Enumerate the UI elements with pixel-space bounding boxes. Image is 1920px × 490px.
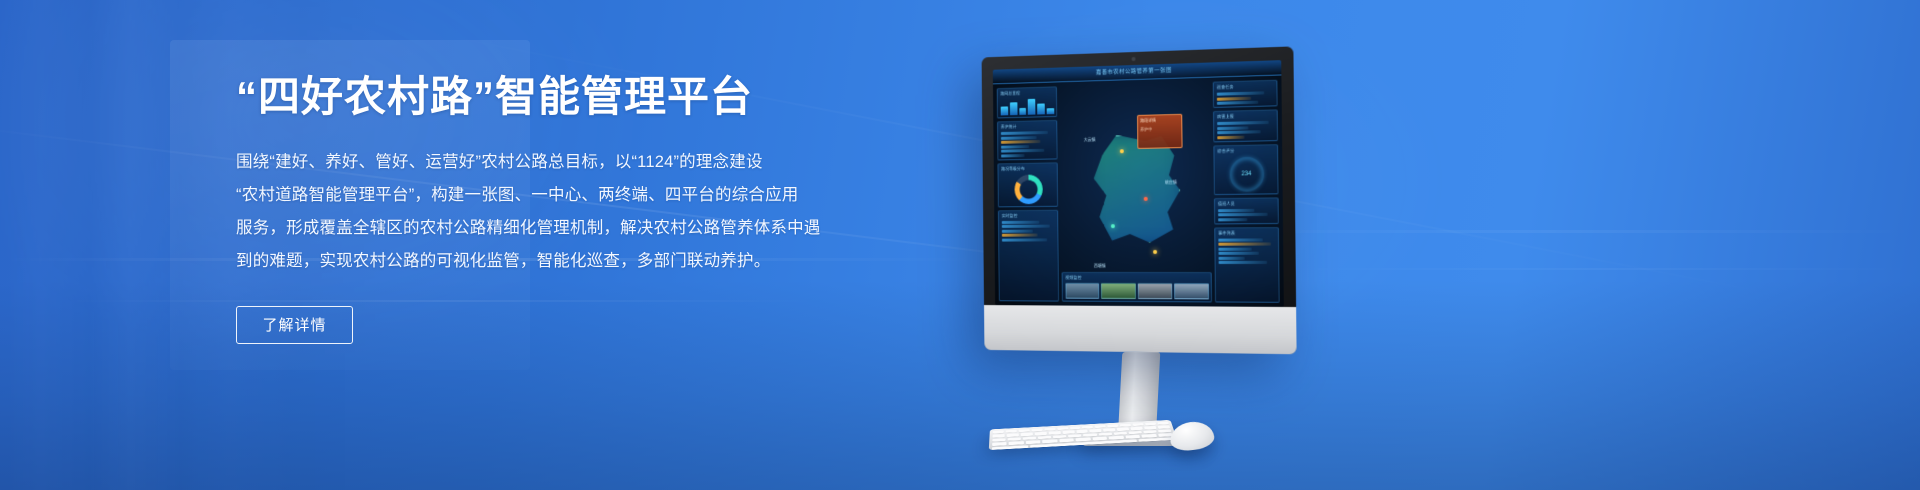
dashboard-map-panel[interactable]: 路段详情 养护中 大云镇 姚庄镇 西塘镇 视频监控	[1060, 82, 1212, 303]
thumbnail[interactable]	[1174, 283, 1209, 299]
page-title: “四好农村路”智能管理平台	[236, 72, 876, 122]
gauge-chart: 234	[1229, 156, 1264, 191]
hero-banner: “四好农村路”智能管理平台 围绕“建好、养好、管好、运营好”农村公路总目标，以“…	[0, 0, 1920, 490]
desktop-monitor: 嘉善市农村公路管养第一张图 路网总里程 养护统计	[982, 46, 1297, 354]
dashboard-card[interactable]: 养护统计	[997, 120, 1058, 160]
thumbnail[interactable]	[1066, 283, 1100, 299]
donut-chart	[1014, 174, 1043, 204]
card-title: 实时监控	[1002, 212, 1056, 218]
card-title: 病害上报	[1217, 113, 1275, 121]
webcam-icon	[1132, 57, 1136, 61]
dashboard-left-column: 路网总里程 养护统计	[997, 86, 1059, 301]
stat-rows	[1218, 238, 1276, 264]
region-map-shape	[1090, 134, 1181, 243]
dashboard-screen: 嘉善市农村公路管养第一张图 路网总里程 养护统计	[993, 60, 1284, 307]
map-label: 姚庄镇	[1165, 179, 1177, 185]
map-marker-icon[interactable]	[1154, 250, 1158, 254]
card-title: 养护统计	[1001, 123, 1055, 130]
monitor-bezel: 嘉善市农村公路管养第一张图 路网总里程 养护统计	[982, 46, 1297, 354]
dashboard-right-column: 巡查任务 病害上报 综合评分	[1213, 80, 1280, 303]
card-title: 值班人员	[1218, 200, 1276, 207]
stat-rows	[1218, 208, 1276, 221]
dashboard-card[interactable]: 病害上报	[1213, 109, 1278, 142]
description-line-1: 围绕“建好、养好、管好、运营好”农村公路总目标，以“1124”的理念建设	[236, 146, 861, 179]
dashboard-card[interactable]: 巡查任务	[1213, 80, 1278, 108]
description-line-2: “农村道路智能管理平台”，构建一张图、一中心、两终端、四平台的综合应用	[236, 179, 861, 212]
card-title: 视频监控	[1065, 275, 1208, 281]
stat-rows	[1001, 131, 1055, 157]
monitor-chin	[984, 305, 1297, 354]
thumbnail[interactable]	[1101, 283, 1135, 299]
map-marker-icon[interactable]	[1111, 224, 1115, 228]
mouse	[1168, 419, 1215, 452]
dashboard-card[interactable]: 值班人员	[1214, 197, 1279, 224]
map-label: 大云镇	[1084, 137, 1096, 143]
thumbnail[interactable]	[1137, 283, 1172, 299]
dashboard-card[interactable]: 事件列表	[1214, 227, 1279, 303]
dashboard-card[interactable]: 综合评分 234	[1213, 144, 1278, 195]
card-title: 巡查任务	[1217, 83, 1275, 91]
dashboard-grid: 路网总里程 养护统计	[993, 75, 1284, 306]
learn-more-button[interactable]: 了解详情	[236, 306, 353, 344]
bar-chart	[1001, 97, 1055, 115]
dashboard-card[interactable]: 路况等级分布	[997, 162, 1058, 207]
background-horizontal-streak	[1280, 268, 1920, 270]
dashboard-card[interactable]: 实时监控	[998, 209, 1059, 301]
map-popup-body: 养护中	[1140, 125, 1179, 132]
map-label: 西塘镇	[1094, 263, 1106, 269]
dashboard-card[interactable]: 路网总里程	[997, 86, 1057, 118]
card-title: 路况等级分布	[1001, 165, 1055, 172]
video-thumbnails-card[interactable]: 视频监控	[1062, 272, 1212, 303]
map-popup-title: 路段详情	[1140, 116, 1179, 123]
map-popup[interactable]: 路段详情 养护中	[1137, 113, 1183, 148]
hero-description: 围绕“建好、养好、管好、运营好”农村公路总目标，以“1124”的理念建设 “农村…	[236, 146, 861, 278]
description-line-4: 到的难题，实现农村公路的可视化监管，智能化巡查，多部门联动养护。	[236, 245, 861, 278]
stat-rows	[1002, 220, 1056, 241]
card-title: 路网总里程	[1000, 89, 1054, 96]
card-title: 事件列表	[1218, 230, 1276, 236]
hero-content: “四好农村路”智能管理平台 围绕“建好、养好、管好、运营好”农村公路总目标，以“…	[236, 72, 876, 344]
stat-rows	[1217, 121, 1275, 139]
description-line-3: 服务，形成覆盖全辖区的农村公路精细化管理机制，解决农村公路管养体系中遇	[236, 212, 861, 245]
stat-rows	[1217, 91, 1275, 105]
card-title: 综合评分	[1217, 147, 1275, 154]
thumbnail-strip	[1066, 283, 1209, 300]
